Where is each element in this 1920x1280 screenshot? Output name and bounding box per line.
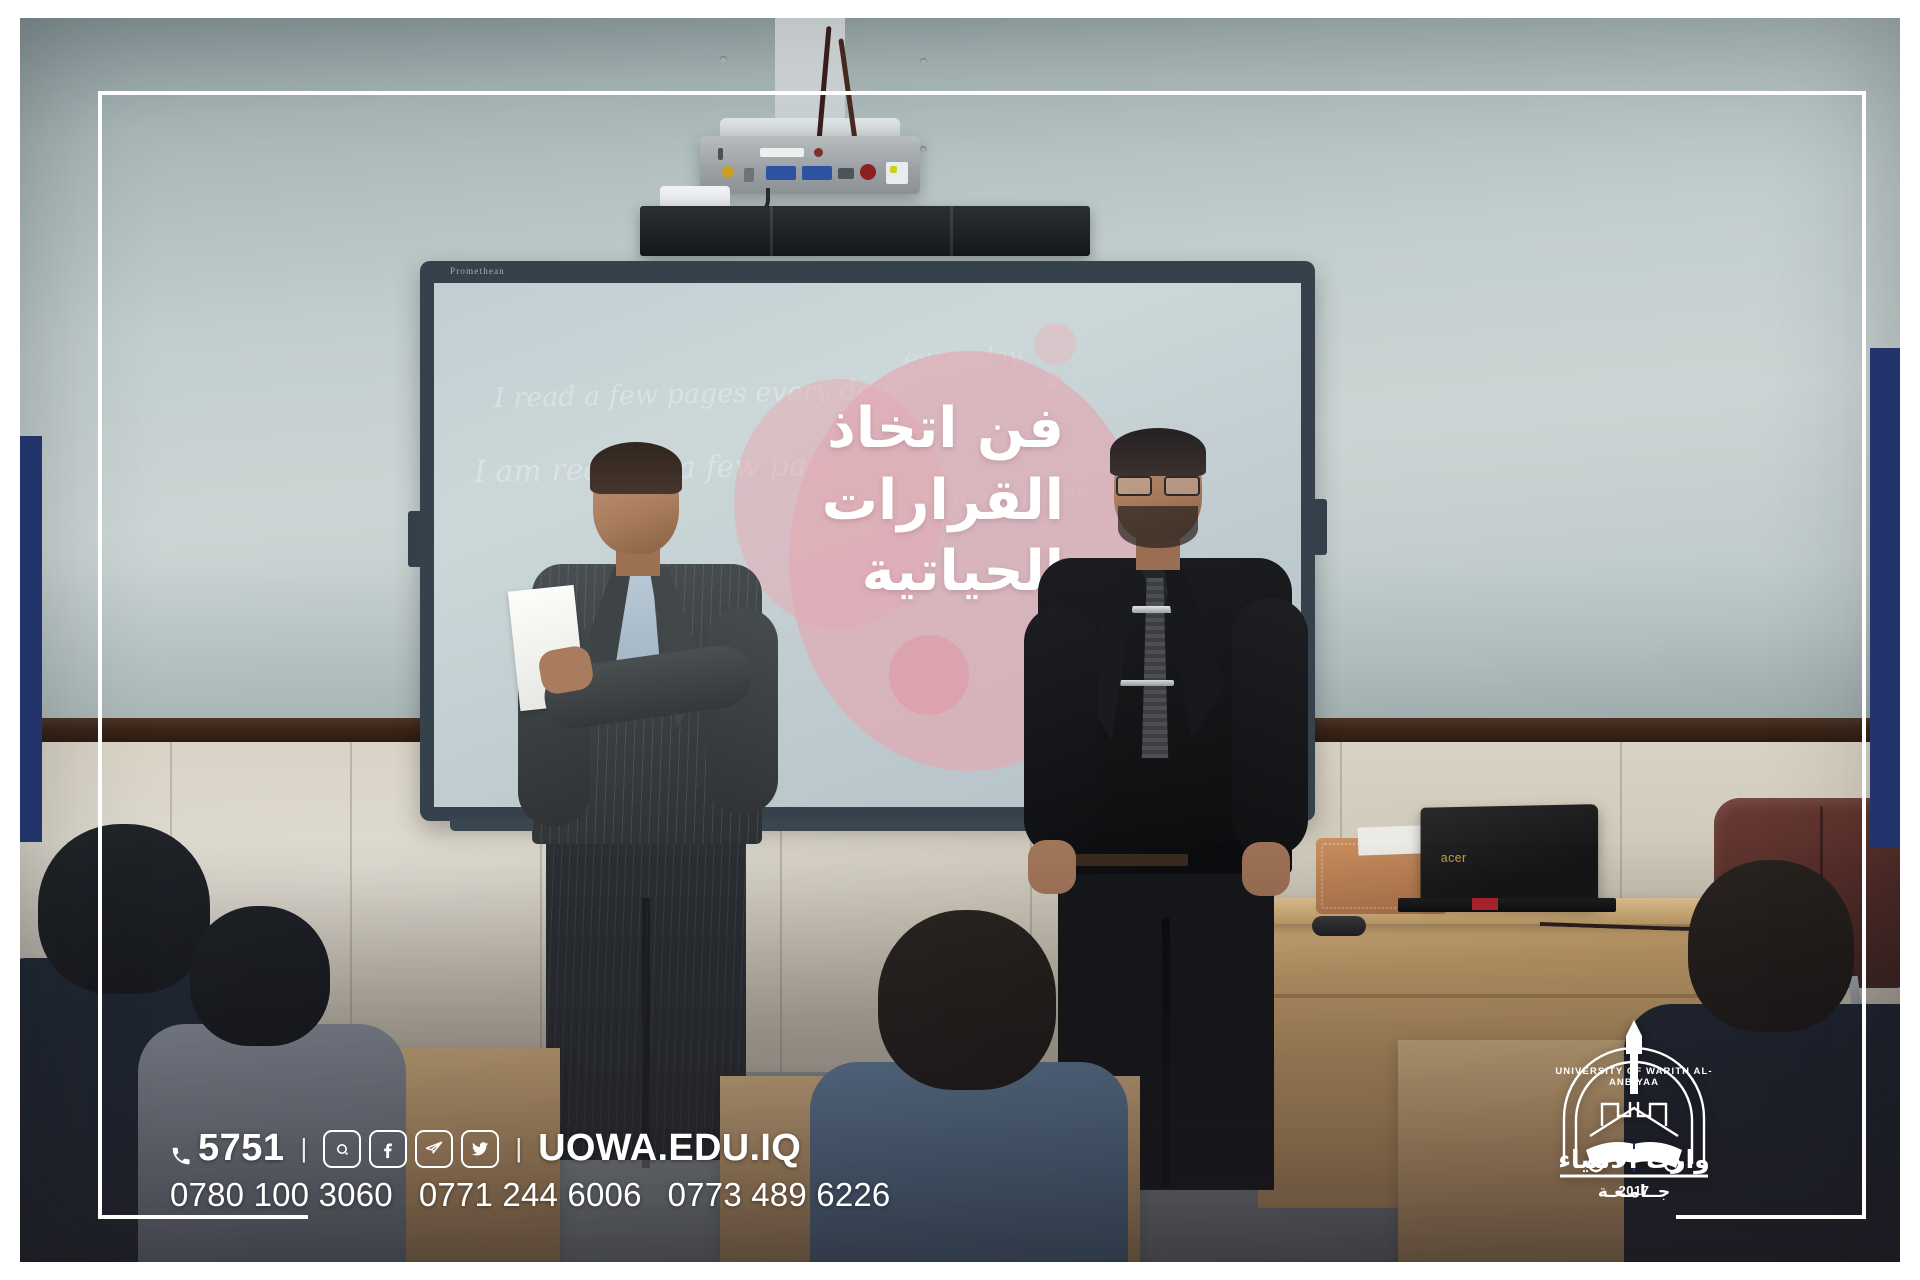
phone-icon: [170, 1136, 192, 1162]
twitter-icon[interactable]: [461, 1130, 499, 1168]
university-logo: UNIVERSITY OF WARITH AL-ANBIYAA وارث الأ…: [1546, 1014, 1722, 1204]
footer-separator: |: [301, 1133, 308, 1164]
phone-number[interactable]: 0771 244 6006: [419, 1176, 642, 1214]
social-icons-group: [323, 1130, 499, 1168]
wall-screw-icon: [720, 56, 727, 63]
slide-title-line-2: القرارات: [734, 465, 1064, 537]
laptop-brand-logo: acer: [1441, 850, 1467, 865]
slide-title: فن اتخاذ القرارات الحياتية: [734, 393, 1064, 608]
navy-accent-bar-left: [20, 436, 42, 842]
slide-title-line-3: الحياتية: [734, 536, 1064, 608]
screenshot-root: Promethean I read a few pages every day …: [0, 0, 1920, 1280]
logo-year: 2017: [1619, 1183, 1650, 1198]
speaker-right-beard: [1118, 506, 1198, 548]
slide-blob-shape: [1046, 373, 1062, 389]
whiteboard-side-clip: [408, 511, 422, 567]
website-url[interactable]: UOWA.EDU.IQ: [538, 1127, 801, 1170]
phone-numbers-row: 0780 100 3060 0771 244 6006 0773 489 622…: [170, 1176, 890, 1214]
slide-blob-shape: [1034, 323, 1076, 365]
hotline-number: 5751: [198, 1127, 285, 1170]
whiteboard-side-clip: [1313, 499, 1327, 555]
speaker-right-belt: [1068, 854, 1188, 866]
speaker-right-hand: [1242, 842, 1290, 896]
laptop: acer: [1421, 804, 1599, 906]
wall-screw-icon: [920, 58, 927, 65]
wall-screw-icon: [920, 146, 927, 153]
slide-title-line-1: فن اتخاذ: [734, 393, 1064, 465]
contact-footer: 5751 |: [170, 1127, 890, 1214]
speaker-left-arm: [706, 608, 778, 814]
footer-separator: |: [515, 1133, 522, 1164]
soundbar-speaker: [640, 206, 1090, 256]
phone-number[interactable]: 0780 100 3060: [170, 1176, 393, 1214]
speaker-right-arm: [1024, 606, 1098, 856]
hotline-block[interactable]: 5751: [170, 1127, 285, 1170]
event-photograph: Promethean I read a few pages every day …: [20, 18, 1900, 1262]
logo-arc-text: UNIVERSITY OF WARITH AL-ANBIYAA: [1546, 1066, 1722, 1088]
telegram-icon[interactable]: [415, 1130, 453, 1168]
speaker-right-arm: [1232, 598, 1308, 856]
laptop-accent-strip: [1472, 898, 1498, 910]
speaker-right-hand: [1028, 840, 1076, 894]
logo-arabic-main: وارث الأنبياء: [1546, 1145, 1722, 1174]
speaker-right-hair: [1110, 428, 1206, 476]
navy-accent-bar-right: [1870, 348, 1900, 848]
whiteboard-brand-label: Promethean: [450, 266, 505, 276]
instagram-icon[interactable]: [323, 1130, 361, 1168]
eyeglasses-icon: [1116, 476, 1200, 492]
computer-mouse: [1312, 916, 1366, 936]
speaker-left-hair: [590, 442, 682, 494]
slide-blob-shape: [889, 635, 969, 715]
phone-number[interactable]: 0773 489 6226: [668, 1176, 891, 1214]
facebook-icon[interactable]: [369, 1130, 407, 1168]
ceiling-projector: [700, 136, 920, 194]
tie-clip-icon: [1120, 680, 1174, 686]
